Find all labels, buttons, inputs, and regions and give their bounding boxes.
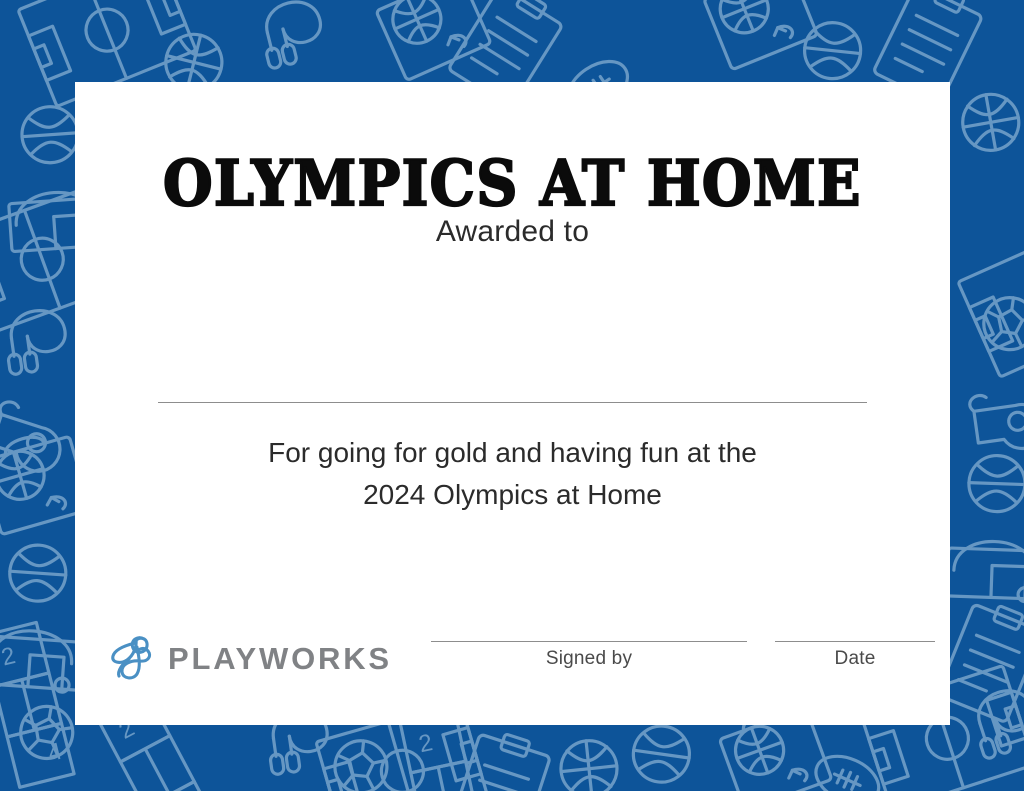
certificate-title: OLYMPICS AT HOME [75, 152, 950, 215]
playworks-logo: PLAYWORKS [107, 633, 392, 683]
citation-line-2: 2024 Olympics at Home [135, 474, 890, 516]
citation-text: For going for gold and having fun at the… [135, 432, 890, 516]
playworks-wordmark: PLAYWORKS [168, 643, 392, 674]
signed-by-value[interactable] [431, 615, 747, 639]
certificate: 2 4 [0, 0, 1024, 791]
citation-line-1: For going for gold and having fun at the [135, 432, 890, 474]
certificate-footer: PLAYWORKS Signed by Date [75, 605, 950, 725]
certificate-card: OLYMPICS AT HOME Awarded to For going fo… [75, 82, 950, 725]
recipient-name-rule [158, 402, 867, 403]
awarded-to-label: Awarded to [75, 215, 950, 249]
signed-by-label: Signed by [431, 648, 747, 670]
signed-by-block: Signed by [431, 641, 747, 670]
date-value[interactable] [775, 615, 935, 639]
playworks-loop-mark [107, 633, 159, 683]
date-rule [775, 641, 935, 642]
date-block: Date [775, 641, 935, 670]
signed-by-rule [431, 641, 747, 642]
recipient-name-field[interactable] [158, 350, 867, 398]
date-label: Date [775, 648, 935, 670]
